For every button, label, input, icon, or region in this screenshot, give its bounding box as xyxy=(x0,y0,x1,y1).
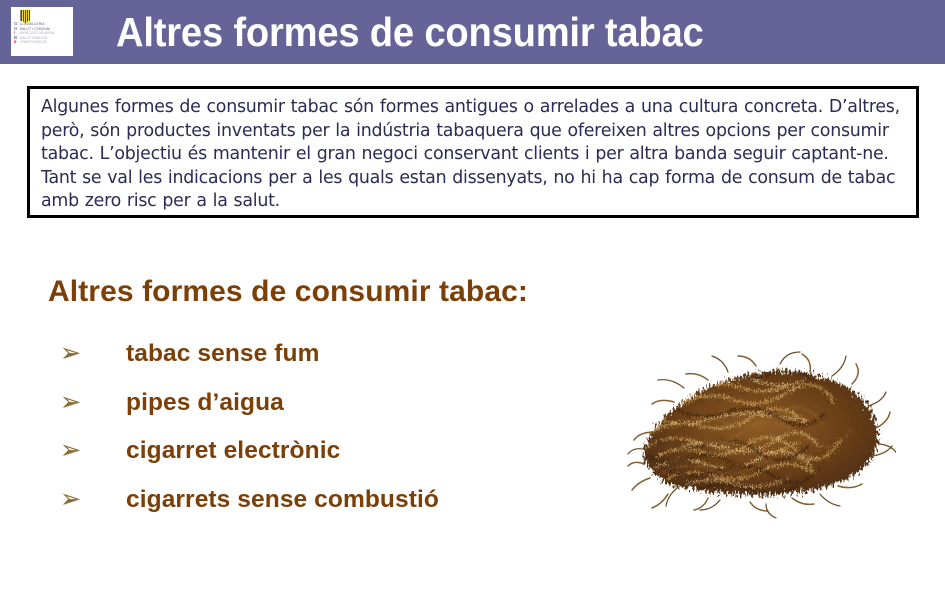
logo-initial: ≥ xyxy=(14,40,18,45)
loose-tobacco-pile-image xyxy=(624,336,896,522)
logo-subtitle-lines: CONSELLERIA SALUT I CONSUM DIRECCIÓ GENE… xyxy=(20,22,56,45)
list-item: ➢ cigarrets sense combustió xyxy=(60,486,600,535)
arrow-bullet-icon: ➢ xyxy=(60,389,126,414)
goib-logo: G O I B ≥ CONSELLERIA SALUT I CONSUM DIR… xyxy=(11,7,73,56)
list-item-label: cigarrets sense combustió xyxy=(126,486,439,514)
arrow-bullet-icon: ➢ xyxy=(60,437,126,462)
intro-text-box: Algunes formes de consumir tabac són for… xyxy=(27,86,919,218)
section-heading: Altres formes de consumir tabac: xyxy=(48,275,528,309)
arrow-bullet-icon: ➢ xyxy=(60,340,126,365)
list-item-label: tabac sense fum xyxy=(126,340,320,368)
logo-line: I PARTICIPACIÓ xyxy=(20,40,56,45)
bullet-list: ➢ tabac sense fum ➢ pipes d’aigua ➢ ciga… xyxy=(60,340,600,534)
page-title: Altres formes de consumir tabac xyxy=(116,6,860,58)
list-item: ➢ tabac sense fum xyxy=(60,340,600,389)
logo-initials: G O I B ≥ xyxy=(14,22,18,45)
logo-text-block: G O I B ≥ CONSELLERIA SALUT I CONSUM DIR… xyxy=(14,22,55,45)
arrow-bullet-icon: ➢ xyxy=(60,486,126,511)
list-item: ➢ cigarret electrònic xyxy=(60,437,600,486)
header-bar: G O I B ≥ CONSELLERIA SALUT I CONSUM DIR… xyxy=(0,0,945,64)
list-item-label: pipes d’aigua xyxy=(126,389,284,417)
list-item-label: cigarret electrònic xyxy=(126,437,340,465)
list-item: ➢ pipes d’aigua xyxy=(60,389,600,438)
intro-paragraph: Algunes formes de consumir tabac són for… xyxy=(41,96,906,214)
senyera-shield-icon xyxy=(20,10,30,21)
